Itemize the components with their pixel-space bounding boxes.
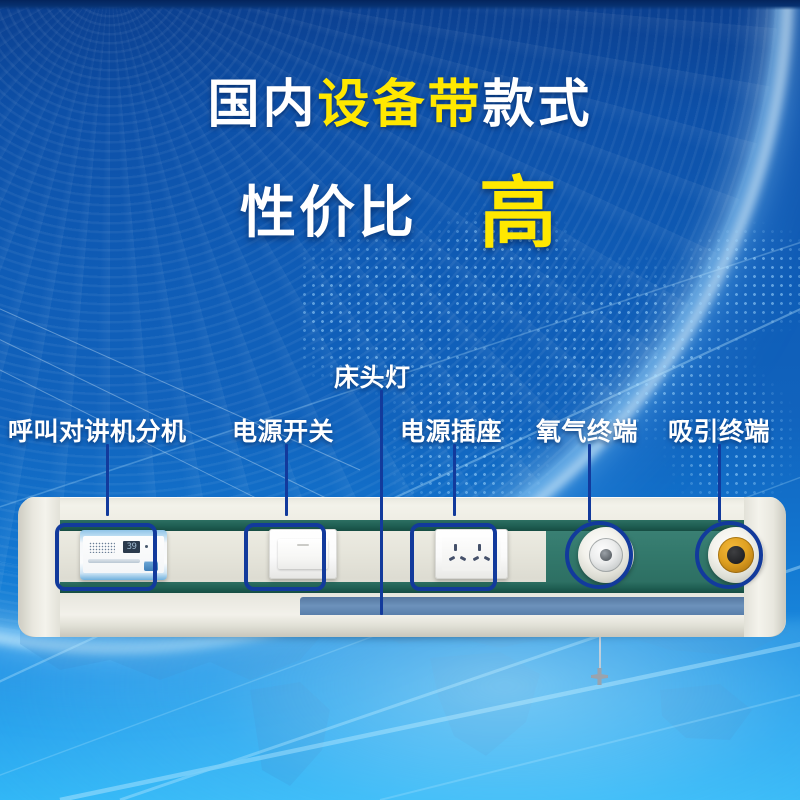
callout-group: 呼叫对讲机分机 电源开关 床头灯 电源插座 氧气终端 吸引终端 — [0, 0, 800, 800]
callout-label-intercom: 呼叫对讲机分机 — [8, 412, 187, 448]
callout-label-oxygen: 氧气终端 — [536, 412, 638, 448]
callout-label-bedlamp: 床头灯 — [334, 358, 411, 394]
highlight-box-socket — [410, 523, 497, 591]
leader-line-bedlamp — [380, 390, 383, 615]
highlight-box-switch — [244, 523, 326, 591]
callout-label-switch: 电源开关 — [232, 412, 334, 448]
highlight-circle-suction — [695, 521, 763, 589]
leader-line-intercom — [106, 444, 109, 516]
highlight-box-intercom — [55, 523, 157, 591]
callout-label-socket: 电源插座 — [400, 412, 502, 448]
product-poster: 国内设备带款式 性价比高 呼叫对讲机分机 电源开关 床头灯 电源插座 氧气终端 … — [0, 0, 800, 800]
highlight-circle-oxygen — [565, 521, 633, 589]
callout-label-suction: 吸引终端 — [668, 412, 770, 448]
leader-line-socket — [453, 444, 456, 516]
leader-line-switch — [285, 444, 288, 516]
leader-line-oxygen — [588, 444, 591, 522]
leader-line-suction — [718, 444, 721, 522]
